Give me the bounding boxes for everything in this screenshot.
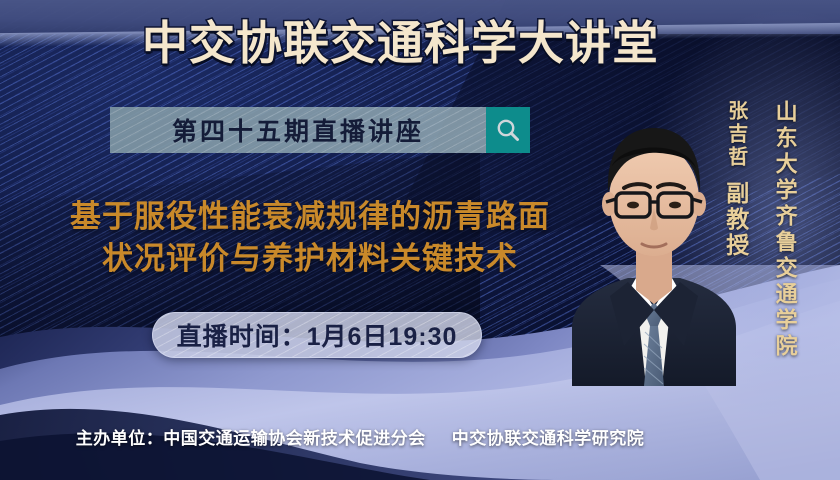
lecture-title: 基于服役性能衰减规律的沥青路面 状况评价与养护材料关键技术 [40,196,580,280]
footer-org2: 中交协联交通科学研究院 [452,429,645,448]
search-icon-box[interactable] [486,107,530,153]
speaker-name: 张吉哲 [725,100,747,169]
footer-prefix: 主办单位： [76,429,164,448]
speaker-rank: 副教授 [723,181,749,259]
page-title: 中交协联交通科学大讲堂 [142,16,659,70]
broadcast-time-pill: 直播时间：1月6日19:30 [152,312,482,358]
footer-org1: 中国交通运输协会新技术促进分会 [163,429,426,448]
speaker-name-block: 张吉哲 副教授 [722,100,748,259]
search-icon [495,117,521,143]
episode-label: 第四十五期直播讲座 [172,112,424,148]
episode-bar: 第四十五期直播讲座 [110,107,530,153]
broadcast-time-text: 直播时间：1月6日19:30 [177,317,458,353]
speaker-photo [566,96,742,386]
speaker-organization: 山东大学齐鲁交通学院 [772,100,797,360]
livestream-poster: 中交协联交通科学大讲堂 第四十五期直播讲座 基于服役性能衰减规律的沥青路面 状况… [0,0,840,480]
episode-bar-body: 第四十五期直播讲座 [110,107,486,153]
footer-organizers: 主办单位：中国交通运输协会新技术促进分会中交协联交通科学研究院 [0,424,720,449]
lecture-title-line2: 状况评价与养护材料关键技术 [40,238,580,280]
lecture-title-line1: 基于服役性能衰减规律的沥青路面 [70,199,550,234]
